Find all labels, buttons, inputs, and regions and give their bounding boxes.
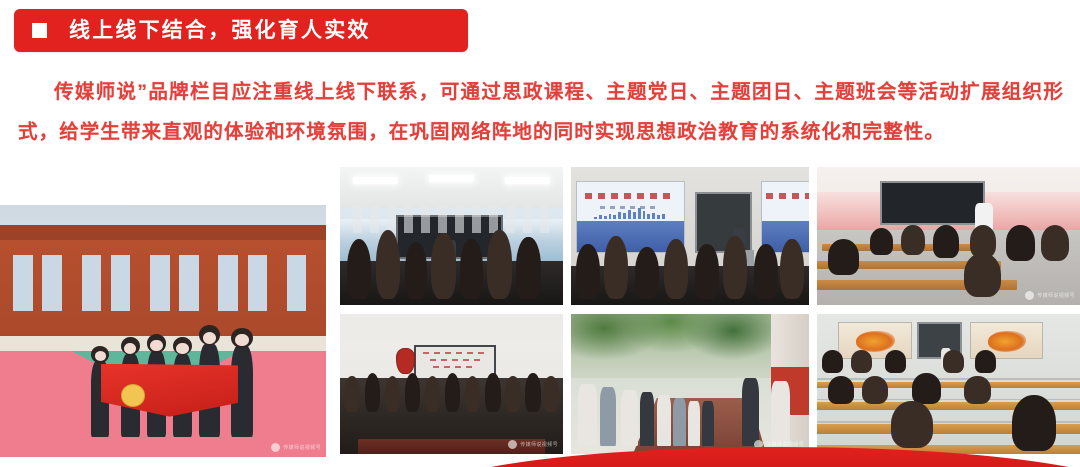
slide-canvas: 线上线下结合，强化育人实效 传媒师说”品牌栏目应注重线上线下联系，可通过思政课程… [0,0,1080,467]
photo-classroom-wooden-desks: 传媒师说视频号 [817,167,1080,305]
photo-lecture-hall-amber-screens [817,314,1080,454]
watermark-logo-icon [508,440,517,449]
square-bullet-icon [32,23,47,38]
watermark-label: 传媒师说视频号 [520,441,558,448]
photo-students-with-red-banner: 传媒师说视频号 [0,205,326,457]
page-title: 线上线下结合，强化育人实效 [69,20,371,41]
watermark-label: 传媒师说视频号 [283,444,321,451]
body-paragraph: 传媒师说”品牌栏目应注重线上线下联系，可通过思政课程、主题党日、主题团日、主题班… [18,72,1064,152]
watermark: 传媒师说视频号 [1025,291,1075,300]
photo-classroom-lecture-blue-mural [340,167,563,305]
photo-outdoor-path: 传媒师说视频号 [571,314,809,454]
watermark: 传媒师说视频号 [271,443,321,452]
watermark-logo-icon [271,443,280,452]
photo-indoor-group: 传媒师说视频号 [340,314,563,454]
section-title-banner: 线上线下结合，强化育人实效 [14,9,468,52]
watermark: 传媒师说视频号 [508,440,558,449]
watermark-logo-icon [1025,291,1034,300]
watermark-label: 传媒师说视频号 [1037,292,1075,299]
photo-lecture-hall-dual-screens [571,167,809,305]
photo-grid: 传媒师说视频号 [340,167,1080,459]
